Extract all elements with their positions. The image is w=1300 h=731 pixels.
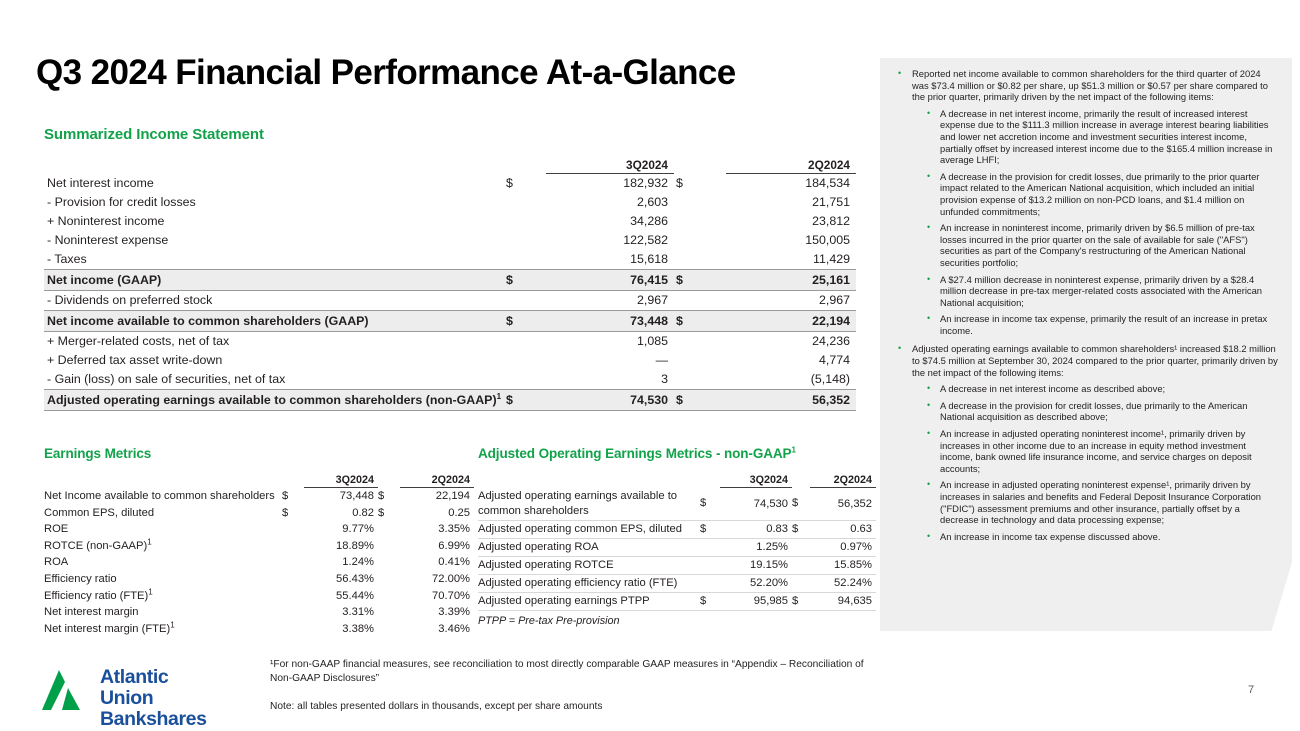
row-value-3q2024: 0.82	[304, 505, 378, 522]
row-value-2q2024: 23,812	[726, 212, 856, 231]
table-row: - Provision for credit losses2,60321,751	[44, 193, 856, 212]
row-currency-1	[700, 575, 720, 593]
row-value-3q2024: 2,967	[546, 291, 674, 311]
earnings-metrics-section: Earnings Metrics 3Q20242Q2024Net Income …	[44, 446, 474, 637]
row-value-3q2024: 1,085	[546, 332, 674, 352]
row-value-3q2024: 182,932	[546, 174, 674, 194]
row-currency-1	[282, 604, 304, 621]
row-value-2q2024: 21,751	[726, 193, 856, 212]
row-currency-2	[792, 575, 810, 593]
bullet-icon: •	[898, 68, 901, 80]
row-label: Efficiency ratio (FTE)1	[44, 588, 282, 605]
commentary-bullet-text: An increase in income tax expense discus…	[940, 531, 1160, 542]
bullet-icon: •	[927, 479, 930, 491]
row-currency-1	[504, 332, 546, 352]
table-row: + Noninterest income34,28623,812	[44, 212, 856, 231]
adjusted-header-dollar-2	[792, 472, 810, 488]
bullet-icon: •	[927, 171, 930, 183]
row-value-2q2024: 3.46%	[400, 621, 474, 638]
table-row: Adjusted operating earnings available to…	[478, 488, 876, 521]
row-currency-1: $	[504, 174, 546, 194]
adjusted-operating-earnings-metrics-section: Adjusted Operating Earnings Metrics - no…	[478, 446, 860, 627]
row-currency-2: $	[378, 488, 400, 505]
income-column-header-1: 3Q2024	[546, 155, 674, 174]
row-value-3q2024: 95,985	[720, 593, 792, 611]
row-value-2q2024: 6.99%	[400, 538, 474, 555]
row-currency-2	[674, 351, 726, 370]
row-value-2q2024: 0.63	[810, 521, 876, 539]
row-currency-1: $	[504, 390, 546, 411]
footnote-units: Note: all tables presented dollars in th…	[270, 700, 870, 714]
row-label: + Noninterest income	[44, 212, 504, 231]
row-value-3q2024: 55.44%	[304, 588, 378, 605]
row-value-3q2024: 73,448	[304, 488, 378, 505]
row-value-2q2024: 25,161	[726, 270, 856, 291]
row-value-3q2024: 1.25%	[720, 539, 792, 557]
row-label: Adjusted operating ROTCE	[478, 557, 700, 575]
adjusted-column-header-1: 3Q2024	[720, 472, 792, 488]
row-currency-2	[378, 588, 400, 605]
table-row: - Taxes15,61811,429	[44, 250, 856, 270]
row-currency-1	[282, 588, 304, 605]
row-value-2q2024: 52.24%	[810, 575, 876, 593]
row-value-3q2024: 56.43%	[304, 571, 378, 588]
row-value-3q2024: 1.24%	[304, 554, 378, 571]
table-row: Adjusted operating earnings PTPP$95,985$…	[478, 593, 876, 611]
row-currency-2: $	[674, 390, 726, 411]
row-value-3q2024: 19.15%	[720, 557, 792, 575]
commentary-bullet-level-2: •A decrease in net interest income, prim…	[927, 108, 1278, 166]
commentary-bullet-text: Reported net income available to common …	[912, 68, 1278, 103]
row-label: Adjusted operating efficiency ratio (FTE…	[478, 575, 700, 593]
row-currency-2	[674, 370, 726, 390]
row-currency-2	[674, 332, 726, 352]
row-value-3q2024: 74,530	[546, 390, 674, 411]
row-currency-2	[378, 571, 400, 588]
commentary-bullet-level-1: •Adjusted operating earnings available t…	[898, 343, 1278, 378]
row-currency-1	[504, 193, 546, 212]
summarized-income-statement-section: Summarized Income Statement 3Q20242Q2024…	[44, 126, 856, 411]
row-currency-2: $	[792, 521, 810, 539]
table-header-row: 3Q20242Q2024	[44, 472, 474, 488]
table-row: - Noninterest expense122,582150,005	[44, 231, 856, 250]
row-label: Adjusted operating earnings available to…	[44, 390, 504, 411]
row-currency-2	[378, 621, 400, 638]
row-currency-1	[700, 539, 720, 557]
row-value-2q2024: 2,967	[726, 291, 856, 311]
row-value-2q2024: 56,352	[810, 488, 876, 521]
row-value-2q2024: 11,429	[726, 250, 856, 270]
ptpp-definition-note: PTPP = Pre-tax Pre-provision	[478, 613, 860, 627]
row-currency-1	[504, 370, 546, 390]
row-label: Efficiency ratio	[44, 571, 282, 588]
commentary-panel: •Reported net income available to common…	[880, 58, 1292, 631]
row-label: Adjusted operating ROA	[478, 539, 700, 557]
row-value-3q2024: 74,530	[720, 488, 792, 521]
row-currency-1: $	[700, 521, 720, 539]
earnings-header-dollar-1	[282, 472, 304, 488]
table-row: - Gain (loss) on sale of securities, net…	[44, 370, 856, 390]
row-value-2q2024: 72.00%	[400, 571, 474, 588]
table-row: + Merger-related costs, net of tax1,0852…	[44, 332, 856, 352]
row-currency-2	[674, 250, 726, 270]
logo-wordmark: Atlantic Union Bankshares	[100, 667, 253, 730]
table-header-row: 3Q20242Q2024	[478, 472, 876, 488]
row-currency-2: $	[674, 174, 726, 194]
row-value-2q2024: 24,236	[726, 332, 856, 352]
commentary-bullet-text: An increase in adjusted operating nonint…	[940, 428, 1252, 474]
table-row: Net interest income$182,932$184,534	[44, 174, 856, 194]
row-currency-2: $	[792, 488, 810, 521]
row-label: Adjusted operating earnings PTPP	[478, 593, 700, 611]
bullet-icon: •	[898, 343, 901, 355]
row-value-2q2024: 0.25	[400, 505, 474, 522]
row-currency-1: $	[282, 488, 304, 505]
row-label: Adjusted operating common EPS, diluted	[478, 521, 700, 539]
bullet-icon: •	[927, 531, 930, 543]
row-value-2q2024: 56,352	[726, 390, 856, 411]
income-statement-table: 3Q20242Q2024Net interest income$182,932$…	[44, 155, 856, 411]
row-currency-1	[504, 212, 546, 231]
bullet-icon: •	[927, 108, 930, 120]
table-row: Adjusted operating common EPS, diluted$0…	[478, 521, 876, 539]
row-currency-1	[282, 521, 304, 538]
earnings-header-spacer	[44, 472, 282, 488]
adjusted-column-header-2: 2Q2024	[810, 472, 876, 488]
row-label: Net Income available to common sharehold…	[44, 488, 282, 505]
row-currency-1	[282, 538, 304, 555]
row-value-2q2024: 0.41%	[400, 554, 474, 571]
row-currency-1: $	[700, 488, 720, 521]
row-currency-1	[700, 557, 720, 575]
row-currency-2	[674, 291, 726, 311]
table-row: Adjusted operating ROTCE19.15%15.85%	[478, 557, 876, 575]
commentary-bullet-text: An increase in income tax expense, prima…	[940, 313, 1267, 336]
bullet-icon: •	[927, 383, 930, 395]
adjusted-header-spacer	[478, 472, 700, 488]
income-column-header-2: 2Q2024	[726, 155, 856, 174]
table-header-row: 3Q20242Q2024	[44, 155, 856, 174]
page-number: 7	[1248, 684, 1254, 696]
commentary-bullet-level-2: •An increase in noninterest income, prim…	[927, 222, 1278, 268]
table-row: - Dividends on preferred stock2,9672,967	[44, 291, 856, 311]
commentary-group: •Reported net income available to common…	[880, 68, 1292, 336]
row-label: Adjusted operating earnings available to…	[478, 488, 700, 521]
row-label: + Merger-related costs, net of tax	[44, 332, 504, 352]
row-value-2q2024: 22,194	[726, 311, 856, 332]
adjusted-metrics-heading: Adjusted Operating Earnings Metrics - no…	[478, 446, 860, 461]
row-currency-1: $	[504, 270, 546, 291]
row-currency-1	[282, 571, 304, 588]
bullet-icon: •	[927, 222, 930, 234]
row-value-2q2024: 0.97%	[810, 539, 876, 557]
income-header-dollar-2	[674, 155, 726, 174]
row-currency-2	[792, 539, 810, 557]
row-label: - Dividends on preferred stock	[44, 291, 504, 311]
row-currency-2	[378, 604, 400, 621]
commentary-bullet-text: Adjusted operating earnings available to…	[912, 343, 1278, 378]
table-row: ROTCE (non-GAAP)118.89%6.99%	[44, 538, 474, 555]
row-value-3q2024: 73,448	[546, 311, 674, 332]
row-value-3q2024: 0.83	[720, 521, 792, 539]
slide: Q3 2024 Financial Performance At-a-Glanc…	[0, 0, 1300, 731]
commentary-bullet-text: An increase in noninterest income, prima…	[940, 222, 1255, 268]
row-label: + Deferred tax asset write-down	[44, 351, 504, 370]
footnote-non-gaap: ¹For non-GAAP financial measures, see re…	[270, 658, 870, 685]
row-value-3q2024: 3	[546, 370, 674, 390]
row-label: - Taxes	[44, 250, 504, 270]
row-value-2q2024: 22,194	[400, 488, 474, 505]
row-label: Net income (GAAP)	[44, 270, 504, 291]
row-label: - Noninterest expense	[44, 231, 504, 250]
row-value-3q2024: 18.89%	[304, 538, 378, 555]
table-row: ROA1.24%0.41%	[44, 554, 474, 571]
row-label: Net interest margin (FTE)1	[44, 621, 282, 638]
mountain-chevron-icon	[38, 666, 94, 712]
commentary-bullet-level-2: •An increase in adjusted operating nonin…	[927, 428, 1278, 474]
row-currency-1: $	[282, 505, 304, 522]
table-row: Net income (GAAP)$76,415$25,161	[44, 270, 856, 291]
row-label: Net interest income	[44, 174, 504, 194]
table-row: Net interest margin (FTE)13.38%3.46%	[44, 621, 474, 638]
row-value-2q2024: 3.39%	[400, 604, 474, 621]
earnings-column-header-1: 3Q2024	[304, 472, 378, 488]
earnings-header-dollar-2	[378, 472, 400, 488]
table-row: + Deferred tax asset write-down—4,774	[44, 351, 856, 370]
row-currency-2	[674, 231, 726, 250]
commentary-bullet-text: A decrease in net interest income, prima…	[940, 108, 1272, 165]
row-currency-1: $	[700, 593, 720, 611]
commentary-bullet-level-2: •A decrease in the provision for credit …	[927, 171, 1278, 217]
row-value-3q2024: —	[546, 351, 674, 370]
adjusted-header-dollar-1	[700, 472, 720, 488]
row-currency-2	[792, 557, 810, 575]
table-row: Net income available to common sharehold…	[44, 311, 856, 332]
commentary-bullet-level-1: •Reported net income available to common…	[898, 68, 1278, 103]
row-value-2q2024: 15.85%	[810, 557, 876, 575]
row-value-3q2024: 2,603	[546, 193, 674, 212]
row-currency-1	[282, 621, 304, 638]
row-label: - Gain (loss) on sale of securities, net…	[44, 370, 504, 390]
row-currency-2	[674, 193, 726, 212]
row-value-3q2024: 3.38%	[304, 621, 378, 638]
row-value-2q2024: 70.70%	[400, 588, 474, 605]
row-value-2q2024: 94,635	[810, 593, 876, 611]
commentary-bullet-text: A $27.4 million decrease in noninterest …	[940, 274, 1262, 308]
income-header-dollar-1	[504, 155, 546, 174]
row-value-2q2024: 3.35%	[400, 521, 474, 538]
row-label: Common EPS, diluted	[44, 505, 282, 522]
table-row: Efficiency ratio (FTE)155.44%70.70%	[44, 588, 474, 605]
table-row: ROE9.77%3.35%	[44, 521, 474, 538]
table-row: Adjusted operating ROA1.25%0.97%	[478, 539, 876, 557]
row-currency-2: $	[792, 593, 810, 611]
page-title: Q3 2024 Financial Performance At-a-Glanc…	[36, 53, 736, 93]
table-row: Efficiency ratio56.43%72.00%	[44, 571, 474, 588]
row-currency-2	[378, 538, 400, 555]
row-label: Net income available to common sharehold…	[44, 311, 504, 332]
logo-line-1: Atlantic	[100, 667, 253, 688]
table-row: Adjusted operating earnings available to…	[44, 390, 856, 411]
earnings-metrics-heading: Earnings Metrics	[44, 446, 474, 461]
row-currency-2	[674, 212, 726, 231]
row-label: - Provision for credit losses	[44, 193, 504, 212]
row-currency-2	[378, 521, 400, 538]
row-label: ROA	[44, 554, 282, 571]
earnings-metrics-table: 3Q20242Q2024Net Income available to comm…	[44, 472, 474, 637]
commentary-bullet-level-2: •A decrease in the provision for credit …	[927, 400, 1278, 423]
row-currency-2	[378, 554, 400, 571]
bullet-icon: •	[927, 428, 930, 440]
commentary-bullet-text: A decrease in net interest income as des…	[940, 383, 1165, 394]
row-currency-1: $	[504, 311, 546, 332]
commentary-bullet-text: An increase in adjusted operating nonint…	[940, 479, 1261, 525]
row-value-3q2024: 9.77%	[304, 521, 378, 538]
row-value-3q2024: 122,582	[546, 231, 674, 250]
row-value-3q2024: 34,286	[546, 212, 674, 231]
row-currency-1	[282, 554, 304, 571]
earnings-column-header-2: 2Q2024	[400, 472, 474, 488]
row-currency-1	[504, 291, 546, 311]
row-value-3q2024: 3.31%	[304, 604, 378, 621]
row-currency-2: $	[674, 311, 726, 332]
bullet-icon: •	[927, 400, 930, 412]
bullet-icon: •	[927, 274, 930, 286]
table-row: Net interest margin3.31%3.39%	[44, 604, 474, 621]
commentary-bullet-level-2: •An increase in income tax expense discu…	[927, 531, 1278, 543]
row-currency-2: $	[378, 505, 400, 522]
row-currency-1	[504, 231, 546, 250]
income-header-spacer	[44, 155, 504, 174]
row-value-3q2024: 76,415	[546, 270, 674, 291]
commentary-bullet-level-2: •An increase in income tax expense, prim…	[927, 313, 1278, 336]
row-currency-2: $	[674, 270, 726, 291]
commentary-group: •Adjusted operating earnings available t…	[880, 343, 1292, 542]
table-row: Adjusted operating efficiency ratio (FTE…	[478, 575, 876, 593]
logo-line-2: Union Bankshares	[100, 688, 253, 730]
row-value-2q2024: 184,534	[726, 174, 856, 194]
row-label: ROE	[44, 521, 282, 538]
atlantic-union-bankshares-logo: Atlantic Union Bankshares	[38, 666, 253, 714]
bullet-icon: •	[927, 313, 930, 325]
row-currency-1	[504, 351, 546, 370]
income-statement-heading: Summarized Income Statement	[44, 126, 856, 143]
footnotes: ¹For non-GAAP financial measures, see re…	[270, 658, 870, 714]
commentary-bullet-text: A decrease in the provision for credit l…	[940, 171, 1259, 217]
commentary-bullet-level-2: •An increase in adjusted operating nonin…	[927, 479, 1278, 525]
row-value-2q2024: 150,005	[726, 231, 856, 250]
row-value-3q2024: 52.20%	[720, 575, 792, 593]
row-label: ROTCE (non-GAAP)1	[44, 538, 282, 555]
table-row: Net Income available to common sharehold…	[44, 488, 474, 505]
adjusted-metrics-table: 3Q20242Q2024Adjusted operating earnings …	[478, 472, 876, 611]
commentary-bullet-level-2: •A $27.4 million decrease in noninterest…	[927, 274, 1278, 309]
row-value-3q2024: 15,618	[546, 250, 674, 270]
row-label: Net interest margin	[44, 604, 282, 621]
row-value-2q2024: (5,148)	[726, 370, 856, 390]
commentary-bullet-level-2: •A decrease in net interest income as de…	[927, 383, 1278, 395]
commentary-bullet-text: A decrease in the provision for credit l…	[940, 400, 1247, 423]
table-row: Common EPS, diluted$0.82$0.25	[44, 505, 474, 522]
row-value-2q2024: 4,774	[726, 351, 856, 370]
row-currency-1	[504, 250, 546, 270]
